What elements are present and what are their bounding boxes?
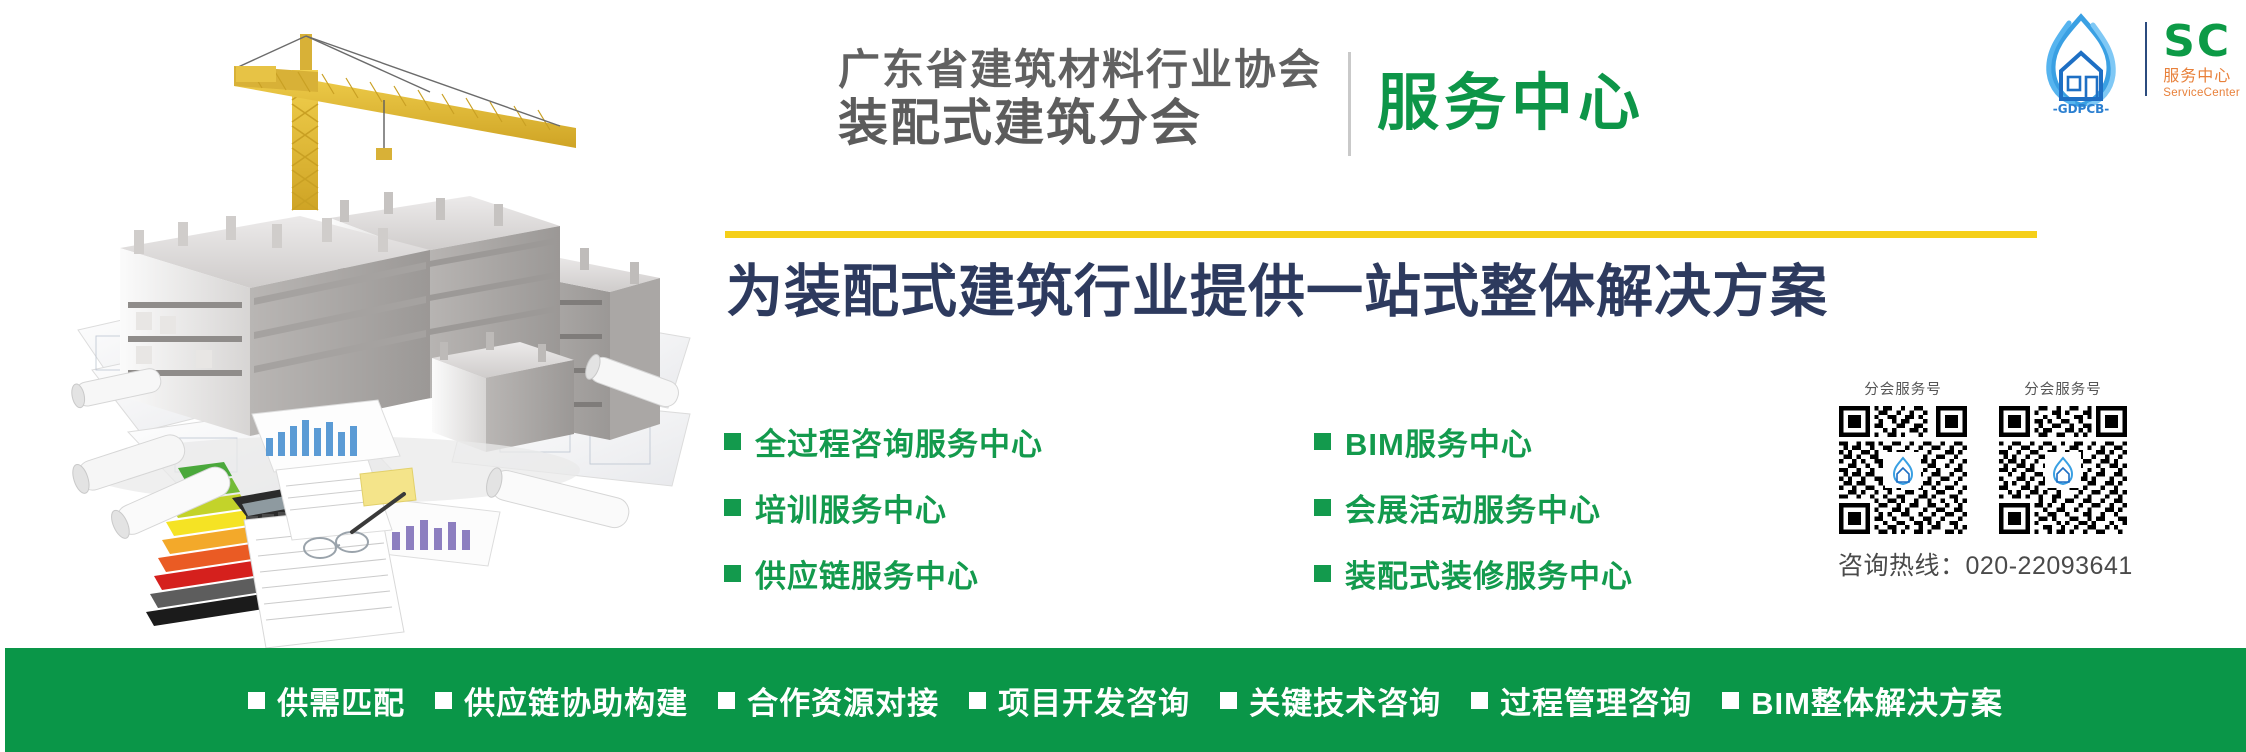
square-bullet-icon (724, 433, 741, 450)
association-line2: 装配式建筑分会 (838, 95, 1322, 153)
footer-item-label: 关键技术咨询 (1249, 678, 1441, 723)
square-bullet-icon (435, 692, 452, 709)
square-bullet-icon (1314, 433, 1331, 450)
association-line1: 广东省建筑材料行业协会 (838, 46, 1322, 93)
footer-item[interactable]: 合作资源对接 (718, 678, 939, 723)
footer-item-label: 供应链协助构建 (464, 678, 688, 723)
square-bullet-icon (1314, 565, 1331, 582)
sticky-note (360, 468, 416, 506)
qr-code-item[interactable]: 分会服务号 (1838, 378, 1968, 534)
logo-chinese-text: 服务中心 (2163, 67, 2240, 87)
qr-code-item[interactable]: 分会服务号 (1998, 378, 2128, 534)
footer-item[interactable]: 过程管理咨询 (1471, 678, 1692, 723)
service-item[interactable]: 供应链服务中心 (724, 540, 1314, 606)
qr-embedded-logo-icon (2045, 452, 2081, 488)
service-item-label: 供应链服务中心 (755, 551, 979, 596)
logo-sc-text: SC (2163, 21, 2240, 63)
hotline-text: 咨询热线：020-22093641 (1838, 546, 2238, 582)
service-item[interactable]: 会展活动服务中心 (1314, 474, 1633, 540)
footer-item-label: BIM整体解决方案 (1751, 678, 2003, 723)
service-item[interactable]: 全过程咨询服务中心 (724, 408, 1314, 474)
title-vertical-divider (1348, 52, 1351, 156)
logo-english-text: ServiceCenter (2163, 87, 2240, 101)
logo-divider (2145, 22, 2147, 96)
qr-caption: 分会服务号 (1864, 378, 1942, 399)
service-item-label: 全过程咨询服务中心 (755, 419, 1043, 464)
square-bullet-icon (1314, 499, 1331, 516)
service-list-right: BIM服务中心 会展活动服务中心 装配式装修服务中心 (1314, 408, 1633, 606)
qr-caption: 分会服务号 (2024, 378, 2102, 399)
gold-divider-rule (725, 231, 2037, 238)
square-bullet-icon (1722, 692, 1739, 709)
service-center-lists: 全过程咨询服务中心 培训服务中心 供应链服务中心 BIM服务中心 会展活动服务中… (724, 408, 1804, 606)
hero-construction-image (0, 0, 700, 648)
service-list-left: 全过程咨询服务中心 培训服务中心 供应链服务中心 (724, 408, 1314, 606)
square-bullet-icon (1471, 692, 1488, 709)
square-bullet-icon (1220, 692, 1237, 709)
square-bullet-icon (969, 692, 986, 709)
service-item[interactable]: 装配式装修服务中心 (1314, 540, 1633, 606)
service-item-label: BIM服务中心 (1345, 419, 1533, 464)
square-bullet-icon (248, 692, 265, 709)
main-headline: 为装配式建筑行业提供一站式整体解决方案 (726, 258, 2046, 326)
svg-text:-GDPCB-: -GDPCB- (2053, 102, 2110, 116)
footer-service-bar: 供需匹配 供应链协助构建 合作资源对接 项目开发咨询 关键技术咨询 过程管理咨询 (5, 648, 2246, 752)
sc-service-center-logo: -GDPCB- SC 服务中心 ServiceCenter (2027, 8, 2240, 118)
square-bullet-icon (724, 565, 741, 582)
service-item-label: 培训服务中心 (755, 485, 947, 530)
footer-item[interactable]: 供应链协助构建 (435, 678, 688, 723)
footer-item[interactable]: 供需匹配 (248, 678, 405, 723)
footer-item[interactable]: 关键技术咨询 (1220, 678, 1441, 723)
footer-item-label: 合作资源对接 (747, 678, 939, 723)
square-bullet-icon (718, 692, 735, 709)
qr-contact-block: 分会服务号 (1838, 378, 2238, 582)
footer-item[interactable]: 项目开发咨询 (969, 678, 1190, 723)
qr-embedded-logo-icon (1885, 452, 1921, 488)
service-item[interactable]: BIM服务中心 (1314, 408, 1633, 474)
footer-item-label: 过程管理咨询 (1500, 678, 1692, 723)
footer-item-label: 供需匹配 (277, 678, 405, 723)
qr-code-image[interactable] (1999, 406, 2127, 534)
square-bullet-icon (724, 499, 741, 516)
qr-code-image[interactable] (1839, 406, 1967, 534)
association-name: 广东省建筑材料行业协会 装配式建筑分会 (838, 46, 1322, 153)
footer-item-label: 项目开发咨询 (998, 678, 1190, 723)
header-title-block: 广东省建筑材料行业协会 装配式建筑分会 服务中心 (838, 46, 1645, 156)
gdpcb-flame-house-icon: -GDPCB- (2027, 9, 2135, 117)
footer-item[interactable]: BIM整体解决方案 (1722, 678, 2003, 723)
service-item-label: 会展活动服务中心 (1345, 485, 1601, 530)
service-center-title: 服务中心 (1377, 70, 1645, 138)
promo-banner: -GDPCB- SC 服务中心 ServiceCenter 广东省建筑材料行业协… (0, 0, 2246, 752)
service-item-label: 装配式装修服务中心 (1345, 551, 1633, 596)
service-item[interactable]: 培训服务中心 (724, 474, 1314, 540)
